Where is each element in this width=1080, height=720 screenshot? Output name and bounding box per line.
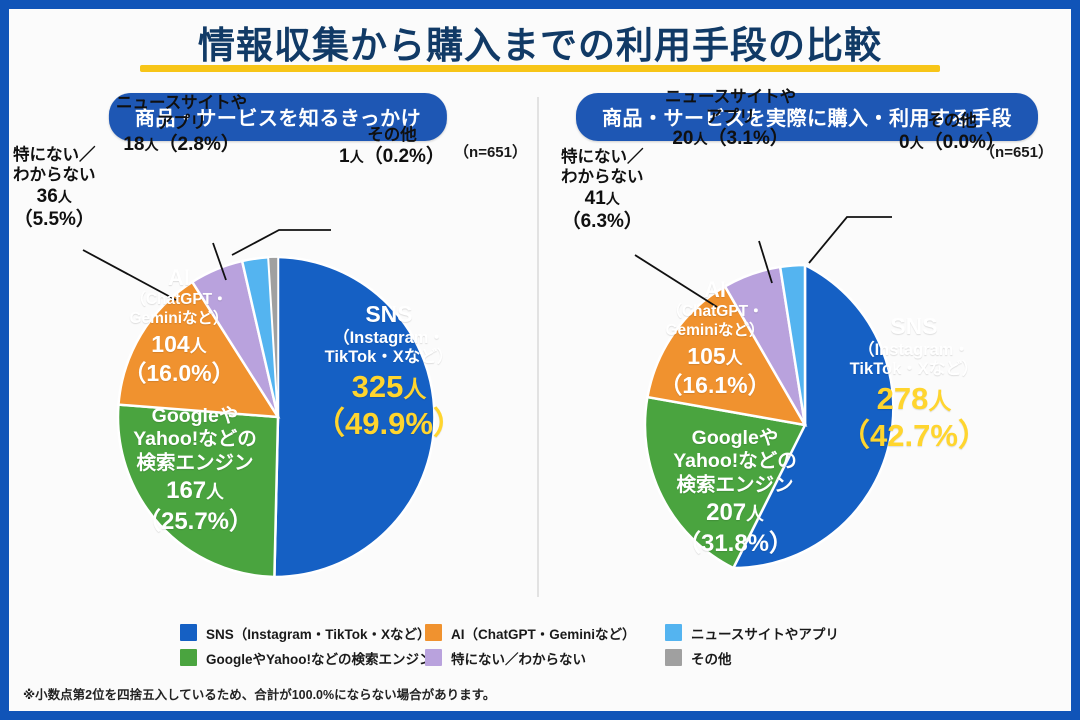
legend-swatch-sns <box>180 624 197 641</box>
legend-item: SNS（Instagram・TikTok・Xなど） <box>180 623 425 643</box>
legend: SNS（Instagram・TikTok・Xなど） AI（ChatGPT・Gem… <box>180 620 900 670</box>
legend-swatch-none <box>425 649 442 666</box>
callout-other-left: その他 1人（0.2%） <box>339 125 445 168</box>
callout-news-left: ニュースサイトや アプリ 18人（2.8%） <box>116 93 247 156</box>
legend-swatch-search <box>180 649 197 666</box>
title-underline <box>140 65 940 72</box>
legend-swatch-news <box>665 624 682 641</box>
legend-item: 特にない／わからない <box>425 648 665 668</box>
label-search-left: Googleや Yahoo!などの 検索エンジン 167人 （25.7%） <box>105 405 285 537</box>
legend-label: その他 <box>691 648 732 668</box>
legend-item: ニュースサイトやアプリ <box>665 623 875 643</box>
label-search-right: Googleや Yahoo!などの 検索エンジン 207人 （31.8%） <box>645 427 825 559</box>
callout-other-right: その他 0人（0.0%） <box>899 111 1005 154</box>
legend-label: GoogleやYahoo!などの検索エンジン <box>206 648 433 668</box>
legend-swatch-ai <box>425 624 442 641</box>
infographic-frame: 情報収集から購入までの利用手段の比較 商品・サービスを知るきっかけ （n=651… <box>0 0 1080 720</box>
label-ai-right: AI （ChatGPT・ Geminiなど） 105人 （16.1%） <box>635 277 795 400</box>
legend-item: その他 <box>665 648 875 668</box>
panel-purchase: 商品・サービスを実際に購入・利用する手段 （n=651） <box>547 85 1067 610</box>
legend-swatch-other <box>665 649 682 666</box>
legend-label: ニュースサイトやアプリ <box>691 623 839 643</box>
legend-item: AI（ChatGPT・Geminiなど） <box>425 623 665 643</box>
pie-area-right: ニュースサイトや アプリ 20人（3.1%） 特にない／ わからない 41人 （… <box>547 155 1067 605</box>
legend-item: GoogleやYahoo!などの検索エンジン <box>180 648 425 668</box>
legend-label: 特にない／わからない <box>451 648 586 668</box>
callout-none-left: 特にない／ わからない 36人 （5.5%） <box>13 145 96 232</box>
panel-divider <box>537 97 539 597</box>
footnote: ※小数点第2位を四捨五入しているため、合計が100.0%にならない場合があります… <box>23 684 495 703</box>
label-sns-right: SNS （Instagram・ TikTok・Xなど） 278人 （42.7%） <box>809 313 1019 454</box>
label-sns-left: SNS （Instagram・ TikTok・Xなど） 325人 （49.9%） <box>289 301 489 442</box>
callout-none-right: 特にない／ わからない 41人 （6.3%） <box>561 147 644 234</box>
legend-label: AI（ChatGPT・Geminiなど） <box>451 623 636 643</box>
leader-line-other <box>232 230 331 255</box>
infographic-canvas: 情報収集から購入までの利用手段の比較 商品・サービスを知るきっかけ （n=651… <box>9 9 1071 711</box>
label-ai-left: AI （ChatGPT・ Geminiなど） 104人 （16.0%） <box>99 265 259 388</box>
pie-area-left: ニュースサイトや アプリ 18人（2.8%） 特にない／ わからない 36人 （… <box>21 155 535 605</box>
panel-awareness: 商品・サービスを知るきっかけ （n=651） <box>21 85 535 610</box>
callout-news-right: ニュースサイトや アプリ 20人（3.1%） <box>665 87 796 150</box>
leader-line-other <box>809 217 892 263</box>
legend-label: SNS（Instagram・TikTok・Xなど） <box>206 623 431 643</box>
